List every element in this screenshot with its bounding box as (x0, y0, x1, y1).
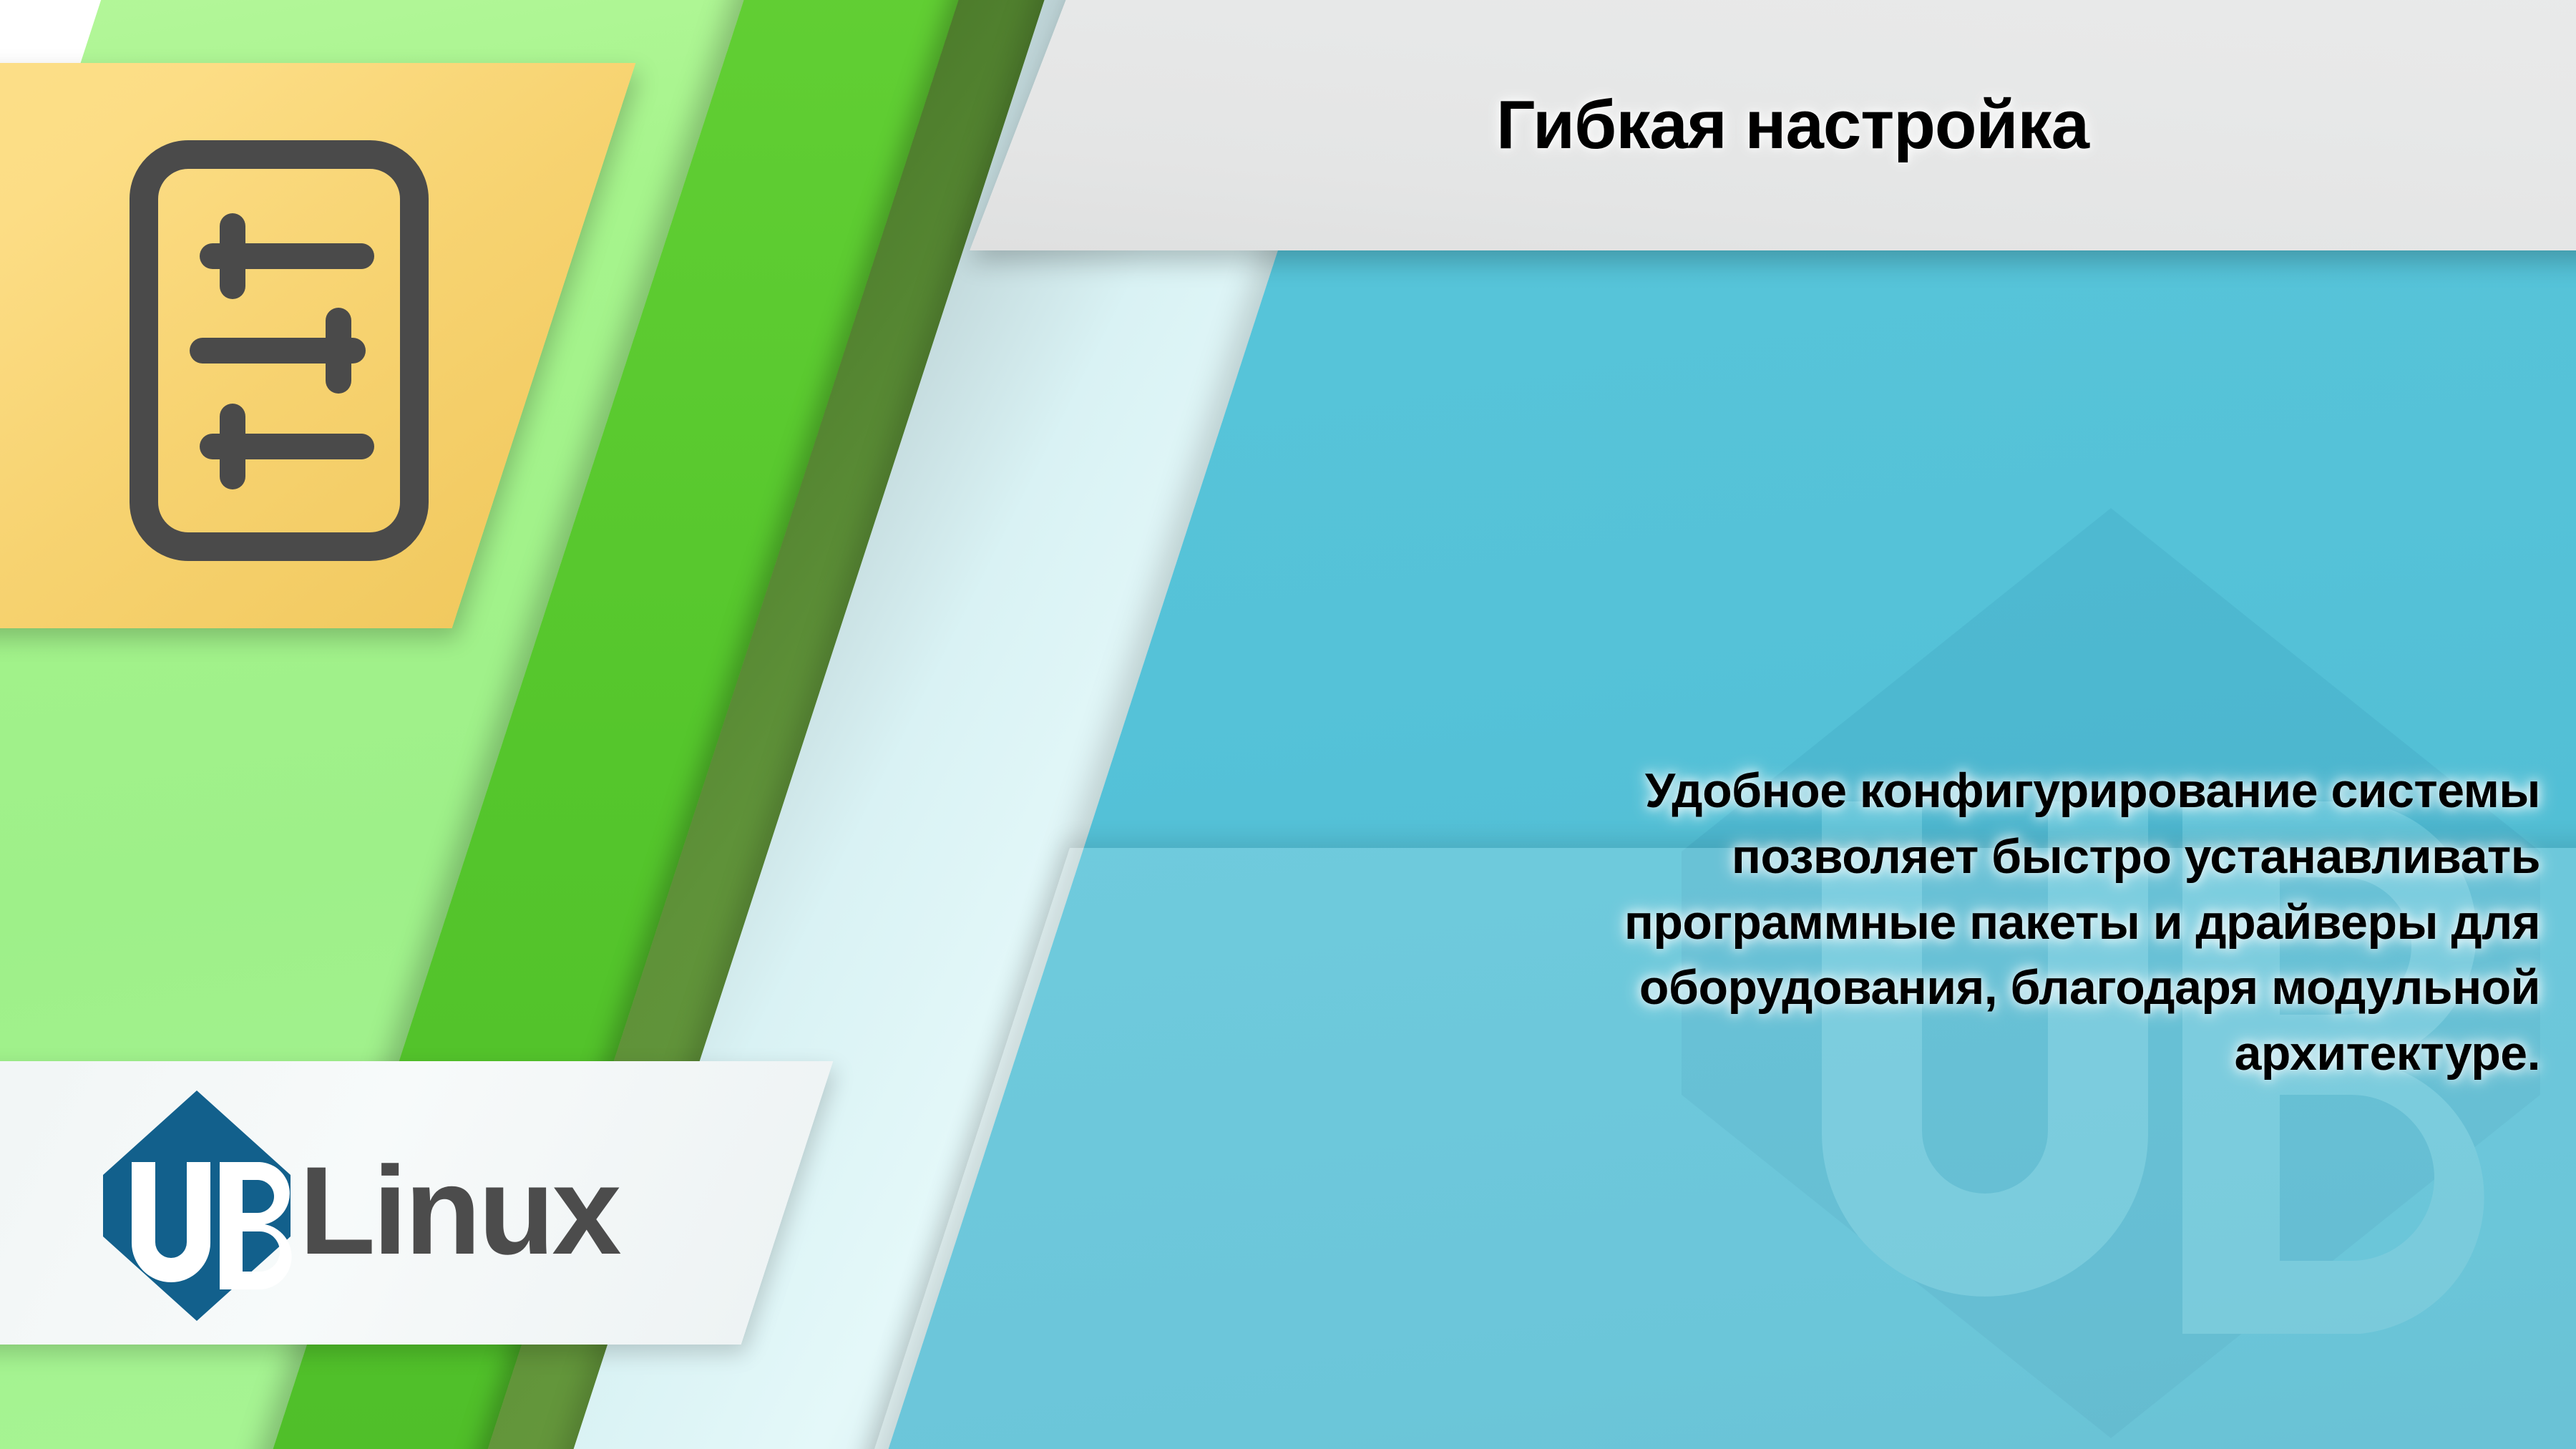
body-line: программные пакеты и драйверы для (1195, 890, 2540, 956)
body-line: позволяет быстро устанавливать (1195, 824, 2540, 890)
body-line: архитектуре. (1195, 1021, 2540, 1087)
logo-wordmark: Linux (299, 1148, 619, 1274)
body-line: оборудования, благодаря модульной (1195, 955, 2540, 1021)
ublinux-logo: Linux (100, 1073, 816, 1338)
settings-sliders-icon (107, 100, 451, 601)
page-title: Гибкая настройка (1059, 7, 2526, 243)
body-paragraph: Удобное конфигурирование системы позволя… (1195, 758, 2540, 1202)
ub-hexagon-icon (100, 1088, 293, 1324)
slide-canvas: Гибкая настройка Удобное конфигурировани… (0, 0, 2576, 1449)
body-line: Удобное конфигурирование системы (1195, 758, 2540, 824)
